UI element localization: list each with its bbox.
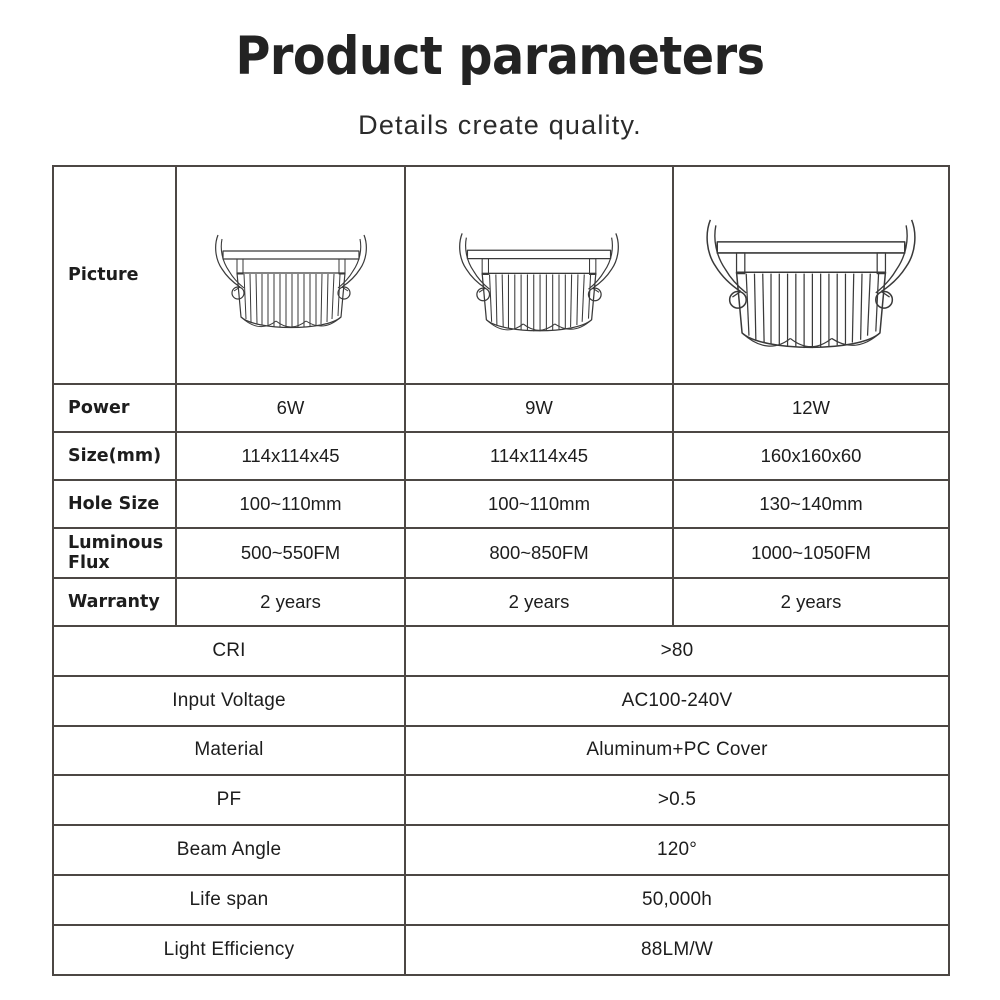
page-subtitle: Details create quality. [0, 83, 1000, 139]
cell-flux-6w: 500~550FM [176, 528, 405, 578]
lamp-drawing-small [177, 167, 404, 383]
cell-warranty-6w: 2 years [176, 578, 405, 626]
cell-beam-angle-value: 120° [405, 825, 949, 875]
product-image-12w [673, 166, 949, 384]
table-row: CRI >80 [53, 626, 949, 676]
cell-flux-9w: 800~850FM [405, 528, 673, 578]
table-row: Beam Angle 120° [53, 825, 949, 875]
cell-size-6w: 114x114x45 [176, 432, 405, 480]
table-row-picture: Picture [53, 166, 949, 384]
product-parameters-page: Product parameters Details create qualit… [0, 0, 1000, 1000]
table-row: Input Voltage AC100-240V [53, 676, 949, 726]
row-label-power: Power [53, 384, 176, 432]
page-header: Product parameters Details create qualit… [0, 0, 1000, 139]
cell-power-12w: 12W [673, 384, 949, 432]
cell-material-value: Aluminum+PC Cover [405, 726, 949, 776]
cell-power-6w: 6W [176, 384, 405, 432]
row-label-material: Material [53, 726, 405, 776]
cell-hole-size-6w: 100~110mm [176, 480, 405, 528]
row-label-light-efficiency: Light Efficiency [53, 925, 405, 975]
table-row: Material Aluminum+PC Cover [53, 726, 949, 776]
downlight-icon [439, 206, 639, 345]
table-row: Light Efficiency 88LM/W [53, 925, 949, 975]
row-label-life-span: Life span [53, 875, 405, 925]
row-label-pf: PF [53, 775, 405, 825]
specification-table: Picture [52, 165, 950, 976]
cell-pf-value: >0.5 [405, 775, 949, 825]
table-row: Hole Size 100~110mm 100~110mm 130~140mm [53, 480, 949, 528]
page-title: Product parameters [0, 0, 1000, 83]
table-row: PF >0.5 [53, 775, 949, 825]
cell-life-span-value: 50,000h [405, 875, 949, 925]
row-label-luminous-flux: Luminous Flux [53, 528, 176, 578]
table-row: Luminous Flux 500~550FM 800~850FM 1000~1… [53, 528, 949, 578]
cell-size-9w: 114x114x45 [405, 432, 673, 480]
row-label-beam-angle: Beam Angle [53, 825, 405, 875]
row-label-cri: CRI [53, 626, 405, 676]
table-row: Power 6W 9W 12W [53, 384, 949, 432]
cell-warranty-12w: 2 years [673, 578, 949, 626]
downlight-icon [196, 209, 386, 341]
cell-light-efficiency-value: 88LM/W [405, 925, 949, 975]
cell-cri-value: >80 [405, 626, 949, 676]
lamp-drawing-large [674, 167, 948, 383]
cell-flux-12w: 1000~1050FM [673, 528, 949, 578]
product-image-9w [405, 166, 673, 384]
table-row: Life span 50,000h [53, 875, 949, 925]
cell-input-voltage-value: AC100-240V [405, 676, 949, 726]
cell-hole-size-12w: 130~140mm [673, 480, 949, 528]
cell-warranty-9w: 2 years [405, 578, 673, 626]
row-label-input-voltage: Input Voltage [53, 676, 405, 726]
product-image-6w [176, 166, 405, 384]
cell-size-12w: 160x160x60 [673, 432, 949, 480]
cell-hole-size-9w: 100~110mm [405, 480, 673, 528]
row-label-hole-size: Hole Size [53, 480, 176, 528]
lamp-drawing-medium [406, 167, 672, 383]
row-label-warranty: Warranty [53, 578, 176, 626]
row-label-picture: Picture [53, 166, 176, 384]
table-row: Size(mm) 114x114x45 114x114x45 160x160x6… [53, 432, 949, 480]
cell-power-9w: 9W [405, 384, 673, 432]
table-row: Warranty 2 years 2 years 2 years [53, 578, 949, 626]
row-label-size: Size(mm) [53, 432, 176, 480]
downlight-icon [680, 184, 942, 366]
